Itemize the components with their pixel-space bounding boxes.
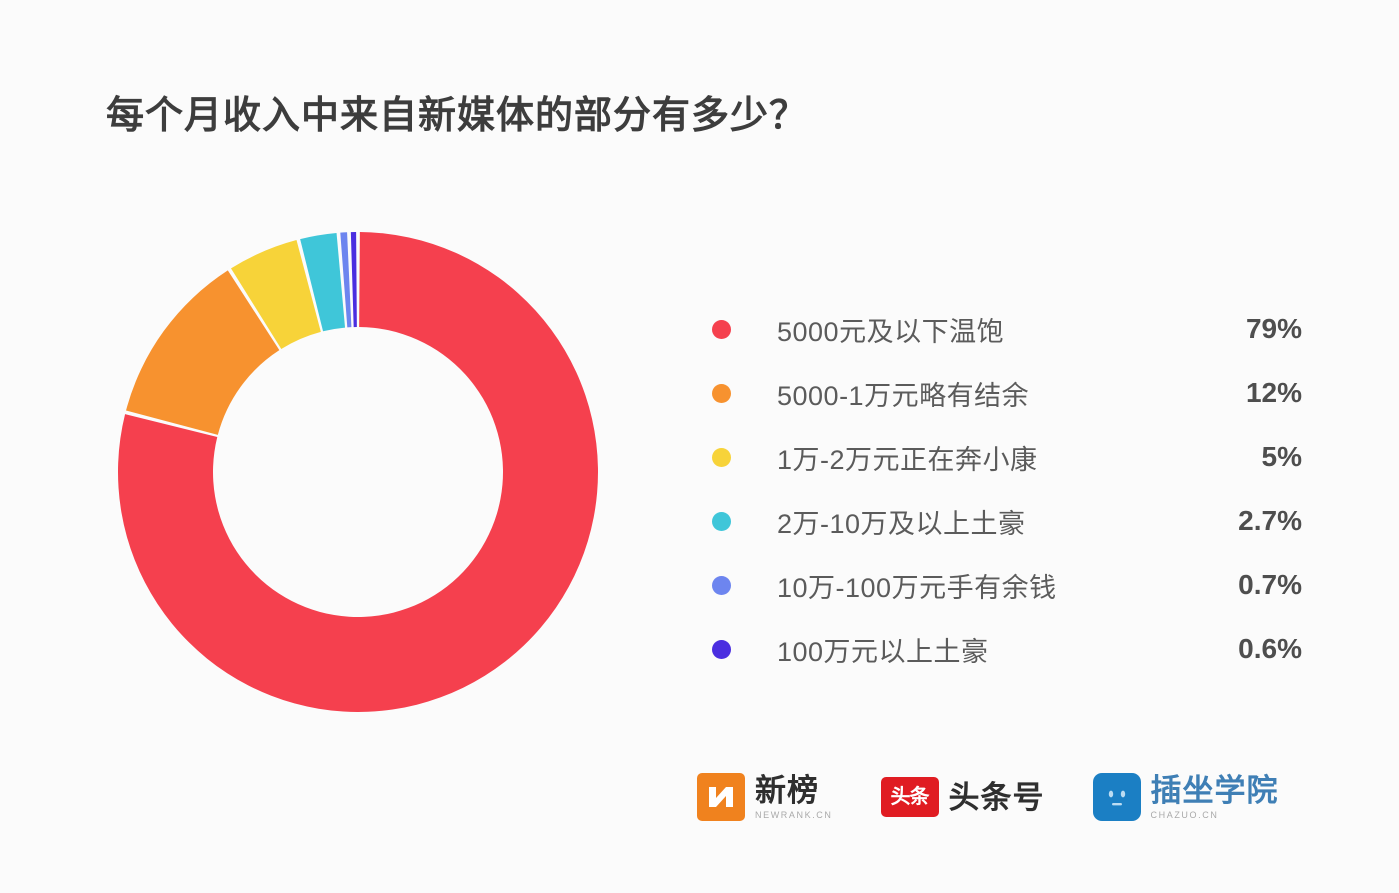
newrank-logo-icon <box>697 773 745 821</box>
legend-label: 100万元以上土豪 <box>777 630 1182 669</box>
legend-row[interactable]: 5000-1万元略有结余 12% <box>712 361 1302 425</box>
donut-chart-svg <box>118 232 598 712</box>
logo-toutiaohao[interactable]: 头条 头条号 <box>881 777 1045 817</box>
toutiaohao-logo-text: 头条号 <box>949 782 1045 813</box>
legend-color-swatch-icon <box>712 384 731 403</box>
logo-subtitle: CHAZUO.CN <box>1151 811 1279 820</box>
legend-row[interactable]: 10万-100万元手有余钱 0.7% <box>712 553 1302 617</box>
newrank-logo-text: 新榜 NEWRANK.CN <box>755 775 833 820</box>
logo-name: 插坐学院 <box>1151 775 1279 806</box>
legend-color-swatch-icon <box>712 576 731 595</box>
donut-slice-group <box>118 232 598 712</box>
slide-canvas: 每个月收入中来自新媒体的部分有多少？ 5000元及以下温饱 79% 5000-1… <box>0 0 1399 893</box>
legend-value: 0.7% <box>1182 569 1302 601</box>
legend-value: 2.7% <box>1182 505 1302 537</box>
chazuo-logo-icon <box>1093 773 1141 821</box>
legend-value: 5% <box>1182 441 1302 473</box>
legend-color-swatch-icon <box>712 320 731 339</box>
page-title: 每个月收入中来自新媒体的部分有多少？ <box>106 84 808 139</box>
legend-color-swatch-icon <box>712 448 731 467</box>
legend-label: 10万-100万元手有余钱 <box>777 566 1182 605</box>
legend-color-swatch-icon <box>712 640 731 659</box>
legend-label: 5000元及以下温饱 <box>777 310 1182 349</box>
legend-value: 0.6% <box>1182 633 1302 665</box>
partner-logo-bar: 新榜 NEWRANK.CN 头条 头条号 插坐学院 CHAZUO.CN <box>697 773 1279 821</box>
chart-legend: 5000元及以下温饱 79% 5000-1万元略有结余 12% 1万-2万元正在… <box>712 297 1302 681</box>
logo-newrank[interactable]: 新榜 NEWRANK.CN <box>697 773 833 821</box>
legend-row[interactable]: 5000元及以下温饱 79% <box>712 297 1302 361</box>
legend-value: 79% <box>1182 313 1302 345</box>
chazuo-logo-text: 插坐学院 CHAZUO.CN <box>1151 775 1279 820</box>
legend-value: 12% <box>1182 377 1302 409</box>
legend-label: 1万-2万元正在奔小康 <box>777 438 1182 477</box>
logo-subtitle: NEWRANK.CN <box>755 811 833 820</box>
legend-row[interactable]: 2万-10万及以上土豪 2.7% <box>712 489 1302 553</box>
legend-label: 5000-1万元略有结余 <box>777 374 1182 413</box>
legend-color-swatch-icon <box>712 512 731 531</box>
logo-name: 头条号 <box>949 782 1045 813</box>
donut-slice[interactable] <box>351 232 357 327</box>
legend-label: 2万-10万及以上土豪 <box>777 502 1182 541</box>
toutiao-logo-icon: 头条 <box>881 777 939 817</box>
logo-name: 新榜 <box>755 775 833 806</box>
legend-row[interactable]: 100万元以上土豪 0.6% <box>712 617 1302 681</box>
logo-chazuo[interactable]: 插坐学院 CHAZUO.CN <box>1093 773 1279 821</box>
legend-row[interactable]: 1万-2万元正在奔小康 5% <box>712 425 1302 489</box>
donut-chart <box>118 232 598 712</box>
